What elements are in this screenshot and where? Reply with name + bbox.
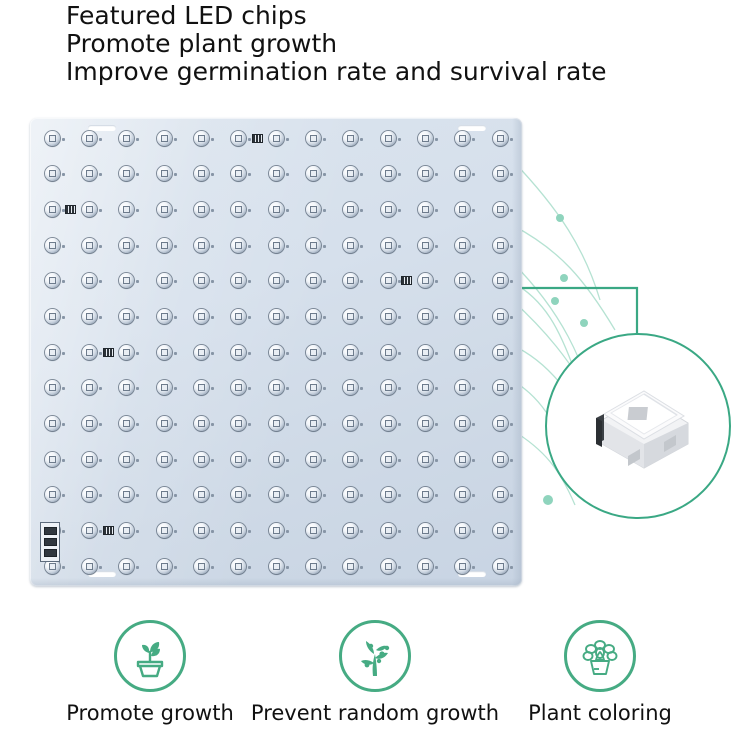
led-pad <box>119 166 134 181</box>
led-pad <box>493 166 508 181</box>
led-solder-dot <box>398 494 401 497</box>
led-pad <box>231 487 246 502</box>
led-solder-dot <box>472 566 475 569</box>
led-pad <box>418 523 433 538</box>
led-pad <box>157 559 172 574</box>
feature-promote-growth[interactable]: Promote growth <box>38 620 263 725</box>
led-pad <box>343 523 358 538</box>
led-solder-dot <box>62 173 65 176</box>
led-pad <box>381 238 396 253</box>
led-solder-dot <box>136 352 139 355</box>
led-pad <box>343 416 358 431</box>
led-solder-dot <box>174 280 177 283</box>
led-pad <box>231 559 246 574</box>
led-pad <box>119 309 134 324</box>
led-solder-dot <box>286 352 289 355</box>
led-solder-dot <box>99 280 102 283</box>
led-pad <box>269 131 284 146</box>
led-solder-dot <box>248 316 251 319</box>
led-solder-dot <box>286 173 289 176</box>
led-solder-dot <box>62 245 65 248</box>
led-array <box>30 118 522 586</box>
led-pad <box>306 452 321 467</box>
led-solder-dot <box>510 530 513 533</box>
led-pad <box>231 416 246 431</box>
led-solder-dot <box>286 245 289 248</box>
led-solder-dot <box>99 459 102 462</box>
led-pad <box>269 345 284 360</box>
led-pad <box>306 309 321 324</box>
led-pad <box>381 273 396 288</box>
led-solder-dot <box>398 316 401 319</box>
led-pad <box>343 273 358 288</box>
led-solder-dot <box>510 459 513 462</box>
led-solder-dot <box>323 173 326 176</box>
led-solder-dot <box>248 494 251 497</box>
led-pad <box>45 452 60 467</box>
led-pad <box>194 202 209 217</box>
led-pad <box>455 131 470 146</box>
led-pad <box>493 523 508 538</box>
led-solder-dot <box>99 566 102 569</box>
led-solder-dot <box>435 138 438 141</box>
led-solder-dot <box>323 566 326 569</box>
led-solder-dot <box>435 423 438 426</box>
led-solder-dot <box>99 530 102 533</box>
led-solder-dot <box>360 423 363 426</box>
led-pad <box>343 487 358 502</box>
led-pad <box>455 523 470 538</box>
led-solder-dot <box>286 423 289 426</box>
led-pad <box>119 131 134 146</box>
led-pad <box>343 380 358 395</box>
led-solder-dot <box>174 530 177 533</box>
led-solder-dot <box>472 530 475 533</box>
led-pad <box>231 166 246 181</box>
led-pad <box>306 487 321 502</box>
led-pad <box>194 345 209 360</box>
led-solder-dot <box>398 387 401 390</box>
led-solder-dot <box>136 173 139 176</box>
led-pad <box>82 238 97 253</box>
led-solder-dot <box>136 209 139 212</box>
led-solder-dot <box>510 173 513 176</box>
led-solder-dot <box>472 209 475 212</box>
led-solder-dot <box>211 280 214 283</box>
led-solder-dot <box>398 209 401 212</box>
led-pad <box>194 487 209 502</box>
led-pad <box>418 202 433 217</box>
led-solder-dot <box>472 494 475 497</box>
flowering-plant-icon <box>576 632 624 680</box>
led-pad <box>269 523 284 538</box>
led-pad <box>455 238 470 253</box>
led-solder-dot <box>211 566 214 569</box>
led-solder-dot <box>211 387 214 390</box>
led-solder-dot <box>211 316 214 319</box>
led-pad <box>493 238 508 253</box>
led-solder-dot <box>99 423 102 426</box>
led-solder-dot <box>360 245 363 248</box>
led-solder-dot <box>323 280 326 283</box>
led-pad <box>157 416 172 431</box>
led-pad <box>343 202 358 217</box>
led-pad <box>119 452 134 467</box>
led-solder-dot <box>398 245 401 248</box>
led-pad <box>231 309 246 324</box>
led-pad <box>269 452 284 467</box>
led-pad <box>119 487 134 502</box>
led-pad <box>231 452 246 467</box>
led-solder-dot <box>174 387 177 390</box>
led-pad <box>82 559 97 574</box>
led-solder-dot <box>435 173 438 176</box>
led-solder-dot <box>435 316 438 319</box>
led-solder-dot <box>323 423 326 426</box>
led-pad <box>493 131 508 146</box>
led-solder-dot <box>136 566 139 569</box>
led-solder-dot <box>472 280 475 283</box>
led-solder-dot <box>248 245 251 248</box>
led-pad <box>306 131 321 146</box>
led-solder-dot <box>174 423 177 426</box>
led-solder-dot <box>99 173 102 176</box>
led-pad <box>306 380 321 395</box>
led-pad <box>82 309 97 324</box>
led-solder-dot <box>248 352 251 355</box>
led-solder-dot <box>510 387 513 390</box>
feature-label-3: Plant coloring <box>528 701 672 725</box>
led-pad <box>194 523 209 538</box>
led-solder-dot <box>286 209 289 212</box>
led-solder-dot <box>398 138 401 141</box>
led-solder-dot <box>62 494 65 497</box>
led-solder-dot <box>472 387 475 390</box>
led-pad <box>157 487 172 502</box>
led-solder-dot <box>136 459 139 462</box>
led-pad <box>455 166 470 181</box>
led-solder-dot <box>174 209 177 212</box>
led-pad <box>157 166 172 181</box>
led-pad <box>306 523 321 538</box>
led-solder-dot <box>323 459 326 462</box>
potted-plant-icon <box>126 632 174 680</box>
led-solder-dot <box>435 209 438 212</box>
led-solder-dot <box>174 173 177 176</box>
led-solder-dot <box>62 423 65 426</box>
led-solder-dot <box>248 387 251 390</box>
wire-terminal-block <box>40 522 60 562</box>
led-pad <box>119 273 134 288</box>
led-pad <box>418 273 433 288</box>
led-solder-dot <box>211 530 214 533</box>
led-pad <box>194 309 209 324</box>
led-solder-dot <box>211 173 214 176</box>
led-pad <box>45 309 60 324</box>
led-solder-dot <box>174 494 177 497</box>
led-pad <box>119 380 134 395</box>
led-solder-dot <box>286 280 289 283</box>
led-solder-dot <box>174 138 177 141</box>
led-pad <box>381 416 396 431</box>
led-solder-dot <box>248 173 251 176</box>
led-solder-dot <box>323 316 326 319</box>
led-solder-dot <box>62 352 65 355</box>
led-solder-dot <box>510 280 513 283</box>
led-pad <box>231 380 246 395</box>
led-solder-dot <box>398 566 401 569</box>
led-solder-dot <box>398 173 401 176</box>
led-solder-dot <box>248 530 251 533</box>
led-solder-dot <box>286 566 289 569</box>
led-solder-dot <box>136 138 139 141</box>
led-pad <box>82 273 97 288</box>
led-pad <box>306 345 321 360</box>
led-pad <box>343 238 358 253</box>
led-solder-dot <box>435 566 438 569</box>
led-solder-dot <box>136 423 139 426</box>
led-solder-dot <box>211 423 214 426</box>
feature-icon-ring-3 <box>564 620 636 692</box>
led-pad <box>194 273 209 288</box>
feature-icon-ring-1 <box>114 620 186 692</box>
led-solder-dot <box>286 459 289 462</box>
led-pad <box>194 238 209 253</box>
led-solder-dot <box>211 494 214 497</box>
led-pad <box>306 559 321 574</box>
led-pad <box>418 452 433 467</box>
led-solder-dot <box>99 387 102 390</box>
led-pad <box>381 309 396 324</box>
led-pad <box>82 166 97 181</box>
led-solder-dot <box>211 245 214 248</box>
led-solder-dot <box>211 352 214 355</box>
led-chip-icon <box>584 368 702 476</box>
led-solder-dot <box>211 459 214 462</box>
led-solder-dot <box>136 280 139 283</box>
led-pad <box>45 345 60 360</box>
led-pad <box>82 452 97 467</box>
led-pad <box>45 273 60 288</box>
feature-row: Promote growth <box>0 620 750 725</box>
led-solder-dot <box>62 138 65 141</box>
led-solder-dot <box>136 316 139 319</box>
led-solder-dot <box>62 316 65 319</box>
led-solder-dot <box>360 138 363 141</box>
led-solder-dot <box>510 494 513 497</box>
led-solder-dot <box>472 423 475 426</box>
led-pad <box>45 380 60 395</box>
led-solder-dot <box>398 459 401 462</box>
feature-icon-ring-2 <box>339 620 411 692</box>
led-solder-dot <box>435 280 438 283</box>
led-pad <box>157 131 172 146</box>
led-solder-dot <box>472 138 475 141</box>
led-solder-dot <box>174 316 177 319</box>
led-pad <box>455 487 470 502</box>
headline-line-1: Featured LED chips <box>66 2 726 30</box>
led-pad <box>157 238 172 253</box>
led-pad <box>194 166 209 181</box>
led-solder-dot <box>510 566 513 569</box>
led-pad <box>82 487 97 502</box>
led-pad <box>231 523 246 538</box>
led-pad <box>157 380 172 395</box>
led-pad <box>194 559 209 574</box>
led-pad <box>157 202 172 217</box>
led-pad <box>343 559 358 574</box>
led-pad <box>381 131 396 146</box>
led-solder-dot <box>510 138 513 141</box>
led-pad <box>119 345 134 360</box>
led-solder-dot <box>472 352 475 355</box>
led-solder-dot <box>398 280 401 283</box>
led-pad <box>231 202 246 217</box>
led-pad <box>343 166 358 181</box>
led-pad <box>194 416 209 431</box>
led-pad <box>418 416 433 431</box>
headline-block: Featured LED chips Promote plant growth … <box>66 2 726 86</box>
led-pad <box>82 523 97 538</box>
led-solder-dot <box>174 566 177 569</box>
led-solder-dot <box>435 459 438 462</box>
led-pad <box>45 166 60 181</box>
led-pad <box>269 309 284 324</box>
led-solder-dot <box>99 245 102 248</box>
led-solder-dot <box>510 245 513 248</box>
led-pad <box>455 452 470 467</box>
led-pad <box>269 166 284 181</box>
led-solder-dot <box>62 459 65 462</box>
led-pad <box>493 487 508 502</box>
led-solder-dot <box>510 352 513 355</box>
led-pad <box>418 487 433 502</box>
led-solder-dot <box>286 316 289 319</box>
led-solder-dot <box>398 423 401 426</box>
led-pad <box>119 559 134 574</box>
led-pad <box>455 345 470 360</box>
led-pad <box>157 452 172 467</box>
led-pad <box>381 523 396 538</box>
led-pad <box>455 273 470 288</box>
led-solder-dot <box>360 209 363 212</box>
led-solder-dot <box>174 459 177 462</box>
led-solder-dot <box>62 280 65 283</box>
led-solder-dot <box>286 387 289 390</box>
led-solder-dot <box>360 459 363 462</box>
infographic-canvas: Featured LED chips Promote plant growth … <box>0 0 750 750</box>
led-pad <box>119 238 134 253</box>
led-solder-dot <box>174 245 177 248</box>
led-solder-dot <box>472 173 475 176</box>
led-pad <box>82 131 97 146</box>
led-pad <box>45 202 60 217</box>
led-pad <box>306 273 321 288</box>
led-pad <box>119 416 134 431</box>
led-pad <box>45 416 60 431</box>
led-pad <box>343 452 358 467</box>
led-pad <box>381 559 396 574</box>
led-solder-dot <box>62 209 65 212</box>
led-solder-dot <box>248 280 251 283</box>
led-pad <box>418 238 433 253</box>
led-pad <box>418 166 433 181</box>
led-solder-dot <box>286 138 289 141</box>
feature-prevent-random-growth[interactable]: Prevent random growth <box>263 620 488 725</box>
led-solder-dot <box>99 494 102 497</box>
led-solder-dot <box>323 530 326 533</box>
led-solder-dot <box>360 352 363 355</box>
feature-label-1: Promote growth <box>66 701 234 725</box>
led-pad <box>493 309 508 324</box>
led-solder-dot <box>248 566 251 569</box>
led-pad <box>381 345 396 360</box>
led-solder-dot <box>360 173 363 176</box>
led-pad <box>231 131 246 146</box>
led-solder-dot <box>323 494 326 497</box>
led-solder-dot <box>360 530 363 533</box>
led-pad <box>82 202 97 217</box>
led-pad <box>493 202 508 217</box>
led-pad <box>82 345 97 360</box>
led-pad <box>157 309 172 324</box>
led-pad <box>455 202 470 217</box>
led-pad <box>418 559 433 574</box>
led-pad <box>45 238 60 253</box>
led-solder-dot <box>360 280 363 283</box>
led-pad <box>493 452 508 467</box>
led-pad <box>306 166 321 181</box>
led-solder-dot <box>472 245 475 248</box>
led-solder-dot <box>323 138 326 141</box>
led-solder-dot <box>435 245 438 248</box>
led-solder-dot <box>323 209 326 212</box>
led-pad <box>269 238 284 253</box>
led-pad <box>343 131 358 146</box>
led-solder-dot <box>398 352 401 355</box>
led-pad <box>157 273 172 288</box>
led-pad <box>269 487 284 502</box>
feature-plant-coloring[interactable]: Plant coloring <box>488 620 713 725</box>
led-solder-dot <box>99 138 102 141</box>
led-solder-dot <box>136 387 139 390</box>
led-solder-dot <box>398 530 401 533</box>
led-pad <box>269 202 284 217</box>
led-solder-dot <box>136 494 139 497</box>
led-pad <box>418 131 433 146</box>
led-pad <box>82 416 97 431</box>
led-panel <box>30 118 522 586</box>
led-solder-dot <box>360 387 363 390</box>
led-solder-dot <box>510 423 513 426</box>
led-pad <box>194 380 209 395</box>
led-pad <box>455 309 470 324</box>
led-pad <box>455 416 470 431</box>
led-solder-dot <box>323 387 326 390</box>
driver-ic <box>252 134 263 143</box>
led-solder-dot <box>323 245 326 248</box>
led-pad <box>493 273 508 288</box>
led-solder-dot <box>248 209 251 212</box>
led-pad <box>231 345 246 360</box>
led-pad <box>306 416 321 431</box>
led-solder-dot <box>248 459 251 462</box>
led-solder-dot <box>510 316 513 319</box>
led-pad <box>269 273 284 288</box>
led-pad <box>306 238 321 253</box>
branching-tree-icon <box>351 632 399 680</box>
led-solder-dot <box>360 316 363 319</box>
